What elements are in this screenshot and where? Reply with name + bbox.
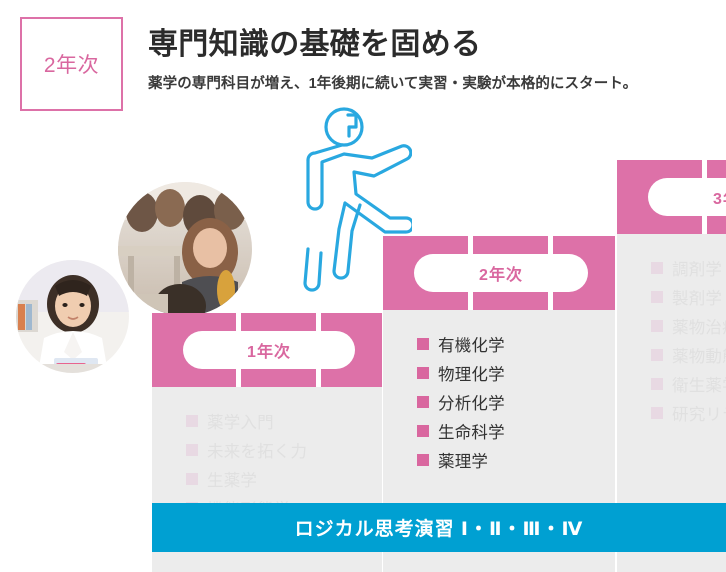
- step-header-year1: 1年次: [152, 313, 382, 387]
- bullet-square-icon: [651, 407, 663, 419]
- step-pill-label: 3年次: [713, 185, 726, 209]
- step-pill-label: 1年次: [247, 338, 291, 362]
- bullet-square-icon: [651, 320, 663, 332]
- photo-classroom: [118, 182, 252, 316]
- bullet-square-icon: [417, 338, 429, 350]
- year-badge: 2年次: [20, 17, 123, 111]
- bullet-square-icon: [651, 291, 663, 303]
- course-label: 未来を拓く力: [207, 438, 307, 462]
- course-label: 生薬学: [207, 467, 257, 491]
- list-item: 薬理学: [417, 448, 615, 472]
- course-label: 分析化学: [438, 390, 505, 414]
- step-pill-label: 2年次: [479, 261, 523, 285]
- course-label: 衛生薬学: [672, 372, 726, 396]
- course-label: 製剤学: [672, 285, 722, 309]
- bullet-square-icon: [186, 444, 198, 456]
- list-item: 調剤学: [651, 256, 726, 280]
- bullet-square-icon: [417, 425, 429, 437]
- bullet-square-icon: [186, 415, 198, 427]
- course-label: 生命科学: [438, 419, 505, 443]
- list-item: 分析化学: [417, 390, 615, 414]
- list-item: 薬物治療学: [651, 314, 726, 338]
- page-title: 専門知識の基礎を固める: [148, 26, 718, 64]
- course-label: 薬学入門: [207, 409, 274, 433]
- photo-student: [16, 260, 129, 373]
- list-item: 製剤学: [651, 285, 726, 309]
- list-item: 有機化学: [417, 332, 615, 356]
- step-header-year2: 2年次: [383, 236, 615, 310]
- course-label: 薬理学: [438, 448, 488, 472]
- course-label: 物理化学: [438, 361, 505, 385]
- list-item: 物理化学: [417, 361, 615, 385]
- logical-thinking-bar: ロジカル思考演習 Ⅰ・Ⅱ・Ⅲ・Ⅳ: [152, 503, 726, 552]
- list-item: 生命科学: [417, 419, 615, 443]
- list-item: 薬学入門: [186, 409, 382, 433]
- course-label: 薬物動態学: [672, 343, 726, 367]
- header-text-block: 専門知識の基礎を固める 薬学の専門科目が増え、1年後期に続いて実習・実験が本格的…: [148, 26, 718, 94]
- page-subtitle: 薬学の専門科目が増え、1年後期に続いて実習・実験が本格的にスタート。: [148, 74, 718, 94]
- bullet-square-icon: [417, 367, 429, 379]
- course-label: 研究リテラシー: [672, 401, 726, 425]
- step-pill-year2: 2年次: [414, 254, 588, 292]
- list-item: 研究リテラシー: [651, 401, 726, 425]
- bullet-square-icon: [651, 378, 663, 390]
- list-item: 衛生薬学: [651, 372, 726, 396]
- year-badge-label: 2年次: [44, 49, 99, 79]
- list-item: 未来を拓く力: [186, 438, 382, 462]
- step-header-year3: 3年次: [617, 160, 726, 234]
- course-label: 調剤学: [672, 256, 722, 280]
- bullet-square-icon: [186, 473, 198, 485]
- step-pill-year3: 3年次: [648, 178, 726, 216]
- list-item: 薬物動態学: [651, 343, 726, 367]
- course-label: 有機化学: [438, 332, 505, 356]
- bullet-square-icon: [651, 349, 663, 361]
- course-label: 薬物治療学: [672, 314, 726, 338]
- bullet-square-icon: [417, 396, 429, 408]
- step-pill-year1: 1年次: [183, 331, 355, 369]
- bullet-square-icon: [651, 262, 663, 274]
- logical-thinking-label: ロジカル思考演習 Ⅰ・Ⅱ・Ⅲ・Ⅳ: [295, 514, 584, 541]
- list-item: 生薬学: [186, 467, 382, 491]
- bullet-square-icon: [417, 454, 429, 466]
